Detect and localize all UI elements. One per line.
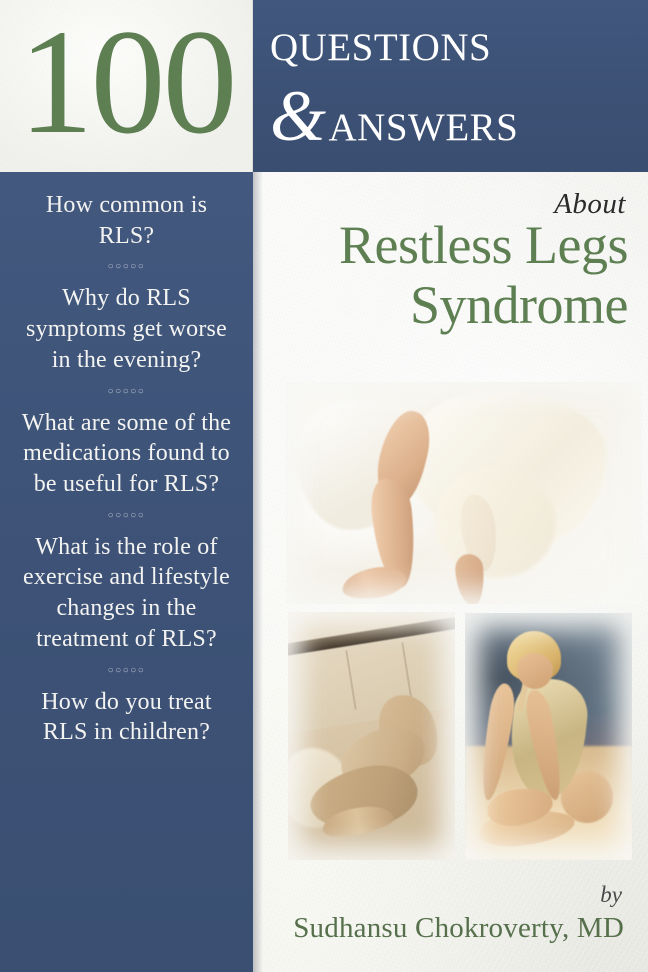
question-separator-4: ○○○○○ xyxy=(12,666,241,676)
author-name: Sudhansu Chokroverty, MD xyxy=(293,912,624,945)
question-separator-3: ○○○○○ xyxy=(12,511,241,521)
series-title: Questions &Answers xyxy=(262,2,646,172)
title-line-2: Syndrome xyxy=(262,278,634,332)
ampersand-glyph: & xyxy=(270,76,329,156)
by-label: by xyxy=(600,882,622,908)
front-foot-shape xyxy=(340,563,408,603)
series-word-questions: Questions xyxy=(270,11,491,72)
title-line-1: Restless Legs xyxy=(262,218,634,272)
page-title: Restless Legs Syndrome xyxy=(262,218,634,332)
series-title-line-questions: Questions xyxy=(270,14,491,69)
sidebar-question-2: Why do RLS symptoms get worse in the eve… xyxy=(19,283,234,375)
series-title-line-answers: &Answers xyxy=(270,80,518,152)
series-word-answers: Answers xyxy=(329,91,519,152)
series-number: 100 xyxy=(0,0,253,172)
legs-in-bed-photo xyxy=(286,382,642,604)
sidebar-question-3: What are some of the medications found t… xyxy=(19,408,234,500)
feet-on-bed-photo xyxy=(288,612,455,860)
question-separator-2: ○○○○○ xyxy=(12,387,241,397)
book-cover: 100 Questions &Answers How common is RLS… xyxy=(0,0,648,972)
question-separator-1: ○○○○○ xyxy=(12,262,241,272)
sidebar-question-1: How common is RLS? xyxy=(19,190,234,251)
rear-foot-shape xyxy=(454,553,486,604)
sidebar-question-4: What is the role of exercise and lifesty… xyxy=(19,532,234,655)
sidebar-question-5: How do you treat RLS in children? xyxy=(19,687,234,748)
bedding-fold-center xyxy=(436,468,556,578)
questions-sidebar: How common is RLS? ○○○○○ Why do RLS symp… xyxy=(0,172,253,972)
woman-stretching-photo xyxy=(465,613,632,860)
